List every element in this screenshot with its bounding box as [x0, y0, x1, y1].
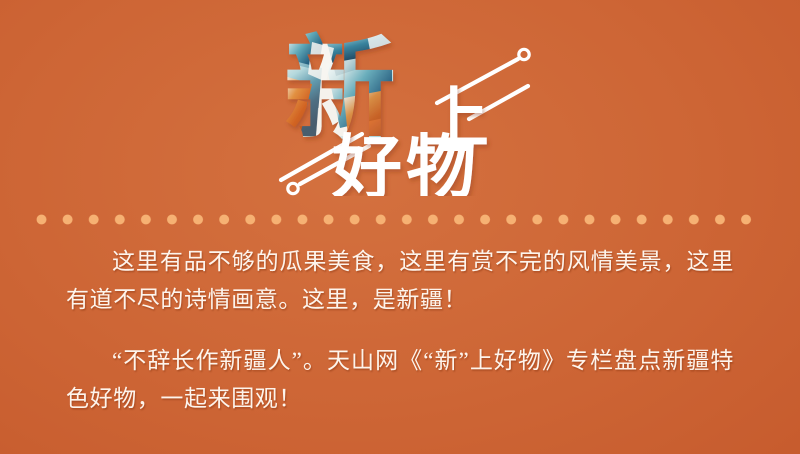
hero-title: 新 上 好 物	[282, 24, 542, 196]
poster-banner: 新 上 好 物 这里有品不够的瓜果美食，这里有赏不完的风情美景，这里有道不尽的诗…	[0, 0, 800, 454]
body-paragraph-1: 这里有品不够的瓜果美食，这里有赏不完的风情美景，这里有道不尽的诗情画意。这里，是…	[66, 243, 734, 319]
body-copy: 这里有品不够的瓜果美食，这里有赏不完的风情美景，这里有道不尽的诗情画意。这里，是…	[66, 243, 734, 418]
hero-title-char-hao: 好	[331, 129, 402, 196]
dotted-divider	[36, 214, 766, 225]
hero-title-char-wu: 物	[406, 129, 476, 196]
hero-header: 新 上 好 物	[0, 0, 800, 205]
body-paragraph-2: “不辞长作新疆人”。天山网《“新”上好物》专栏盘点新疆特色好物，一起来围观！	[66, 342, 734, 418]
